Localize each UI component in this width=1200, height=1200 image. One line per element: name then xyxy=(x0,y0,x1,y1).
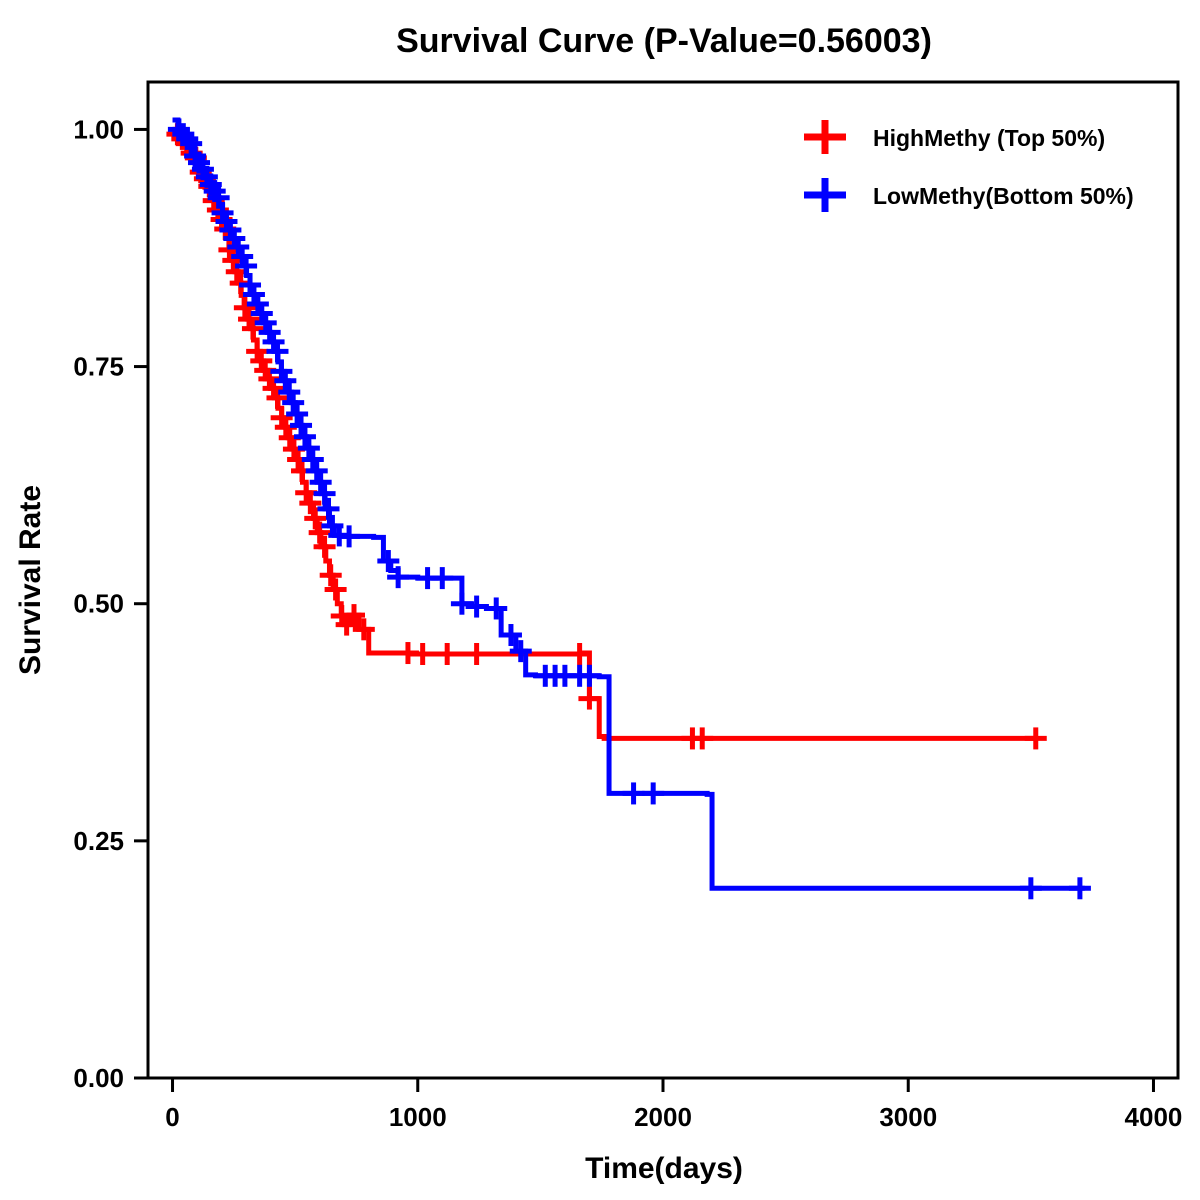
legend-item-label: HighMethy (Top 50%) xyxy=(873,125,1105,151)
chart-title: Survival Curve (P-Value=0.56003) xyxy=(396,22,932,60)
legend-item-label: LowMethy(Bottom 50%) xyxy=(873,183,1134,209)
y-tick-label: 0.00 xyxy=(73,1063,124,1093)
survival-chart-figure: Survival Curve (P-Value=0.56003) 0.000.2… xyxy=(0,0,1200,1200)
y-axis-ticks: 0.000.250.500.751.00 xyxy=(73,114,148,1093)
series-layer xyxy=(166,118,1090,899)
chart-legend: HighMethy (Top 50%)LowMethy(Bottom 50%) xyxy=(804,120,1134,212)
legend-item-highmethy[interactable]: HighMethy (Top 50%) xyxy=(804,120,1105,154)
legend-item-lowmethy[interactable]: LowMethy(Bottom 50%) xyxy=(804,178,1134,212)
y-tick-label: 0.25 xyxy=(73,826,124,856)
x-tick-label: 1000 xyxy=(389,1102,447,1132)
survival-series-low xyxy=(168,118,1091,899)
y-tick-label: 0.75 xyxy=(73,352,124,382)
survival-curve-plot: Survival Curve (P-Value=0.56003) 0.000.2… xyxy=(0,0,1200,1200)
x-axis-ticks: 01000200030004000 xyxy=(165,1078,1182,1132)
x-axis-title: Time(days) xyxy=(585,1152,743,1185)
x-tick-label: 2000 xyxy=(634,1102,692,1132)
plot-frame xyxy=(148,82,1178,1078)
x-tick-label: 3000 xyxy=(879,1102,937,1132)
x-tick-label: 4000 xyxy=(1125,1102,1183,1132)
y-axis-title: Survival Rate xyxy=(14,485,47,675)
y-tick-label: 0.50 xyxy=(73,589,124,619)
x-tick-label: 0 xyxy=(165,1102,179,1132)
y-tick-label: 1.00 xyxy=(73,114,124,144)
